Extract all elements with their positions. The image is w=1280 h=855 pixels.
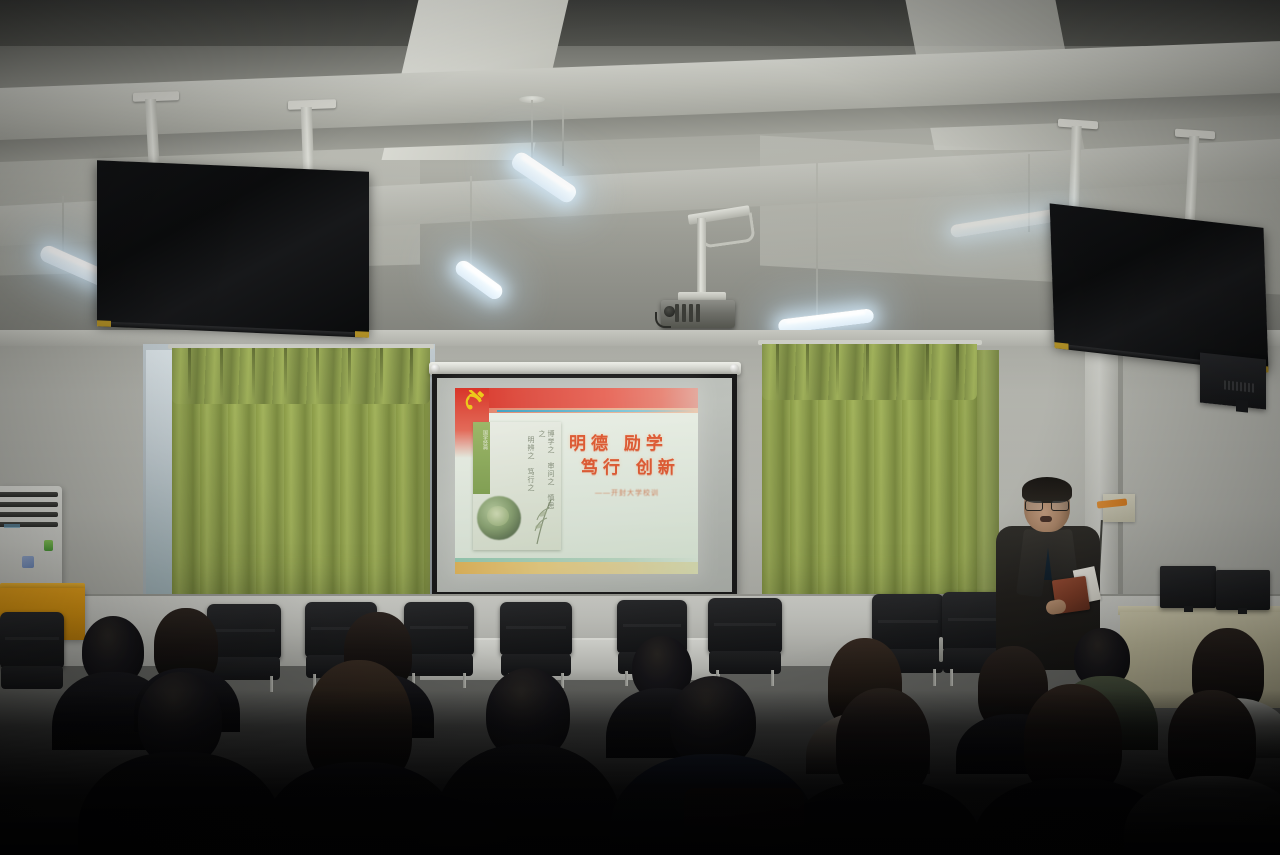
air-conditioner-logo <box>4 524 20 528</box>
projector-pole <box>697 218 706 296</box>
ceiling-dark-strip <box>0 0 1280 46</box>
slide-red-banner <box>455 388 698 408</box>
screen-roller-knob-left <box>431 364 440 373</box>
tv-mount-bracket-b <box>288 99 336 110</box>
lecture-hall-photo: 国学经典 博学之 审问之 慎思之 明辨之 笃行之 明德 励学 笃行 创新 ——开… <box>0 0 1280 855</box>
curtain-left <box>172 348 430 616</box>
hammer-and-sickle-emblem <box>461 390 489 412</box>
slide-book-image: 国学经典 博学之 审问之 慎思之 明辨之 笃行之 <box>473 422 561 550</box>
glasses-icon <box>1025 500 1069 509</box>
light-hang-rod-1b <box>562 104 564 166</box>
air-conditioner-display <box>22 556 34 568</box>
tv-right[interactable] <box>1050 203 1269 368</box>
slide-motto: 明德 励学 笃行 创新 <box>567 432 693 480</box>
slide-motto-line-1: 明德 励学 <box>567 432 693 456</box>
tv-left[interactable] <box>97 160 369 333</box>
slide-footer-gold-band <box>455 562 698 574</box>
monitor-2-stand <box>1238 608 1247 614</box>
light-hang-rod-3 <box>816 160 818 316</box>
monitor-1[interactable] <box>1160 566 1216 608</box>
air-conditioner-badge <box>44 540 53 551</box>
curtain-right-pleats <box>762 344 977 400</box>
tv-left-corner-clip-b <box>355 331 369 338</box>
tv-right-screen <box>1050 203 1269 368</box>
monitor-2[interactable] <box>1216 570 1270 610</box>
chair-front-9[interactable] <box>0 612 64 702</box>
projected-slide: 国学经典 博学之 审问之 慎思之 明辨之 笃行之 明德 励学 笃行 创新 ——开… <box>455 388 698 574</box>
book-band-label: 国学经典 <box>475 430 488 450</box>
chair-front-6[interactable] <box>708 598 782 686</box>
wall-speaker-mount <box>1236 399 1248 412</box>
foreground-shadow <box>0 690 1280 855</box>
book-calligraphy-column-2: 明辨之 笃行之 <box>526 436 535 506</box>
wall-column-right-edge <box>1118 330 1123 630</box>
tv-left-corner-clip-a <box>97 320 111 327</box>
tv-left-screen <box>97 160 369 333</box>
book-ink-highlight <box>487 506 509 526</box>
slide-teal-divider <box>497 410 697 412</box>
presenter-mouth <box>1040 516 1052 522</box>
slide-attribution: ——开封大学校训 <box>595 488 659 498</box>
slide-motto-line-2: 笃行 创新 <box>567 456 693 480</box>
book-green-band: 国学经典 <box>473 422 490 494</box>
book-branch-illustration <box>521 498 557 546</box>
monitor-1-stand <box>1184 606 1193 612</box>
curtain-left-pleats <box>172 348 430 404</box>
curtain-right <box>762 344 977 616</box>
screen-roller-knob-right <box>730 364 739 373</box>
